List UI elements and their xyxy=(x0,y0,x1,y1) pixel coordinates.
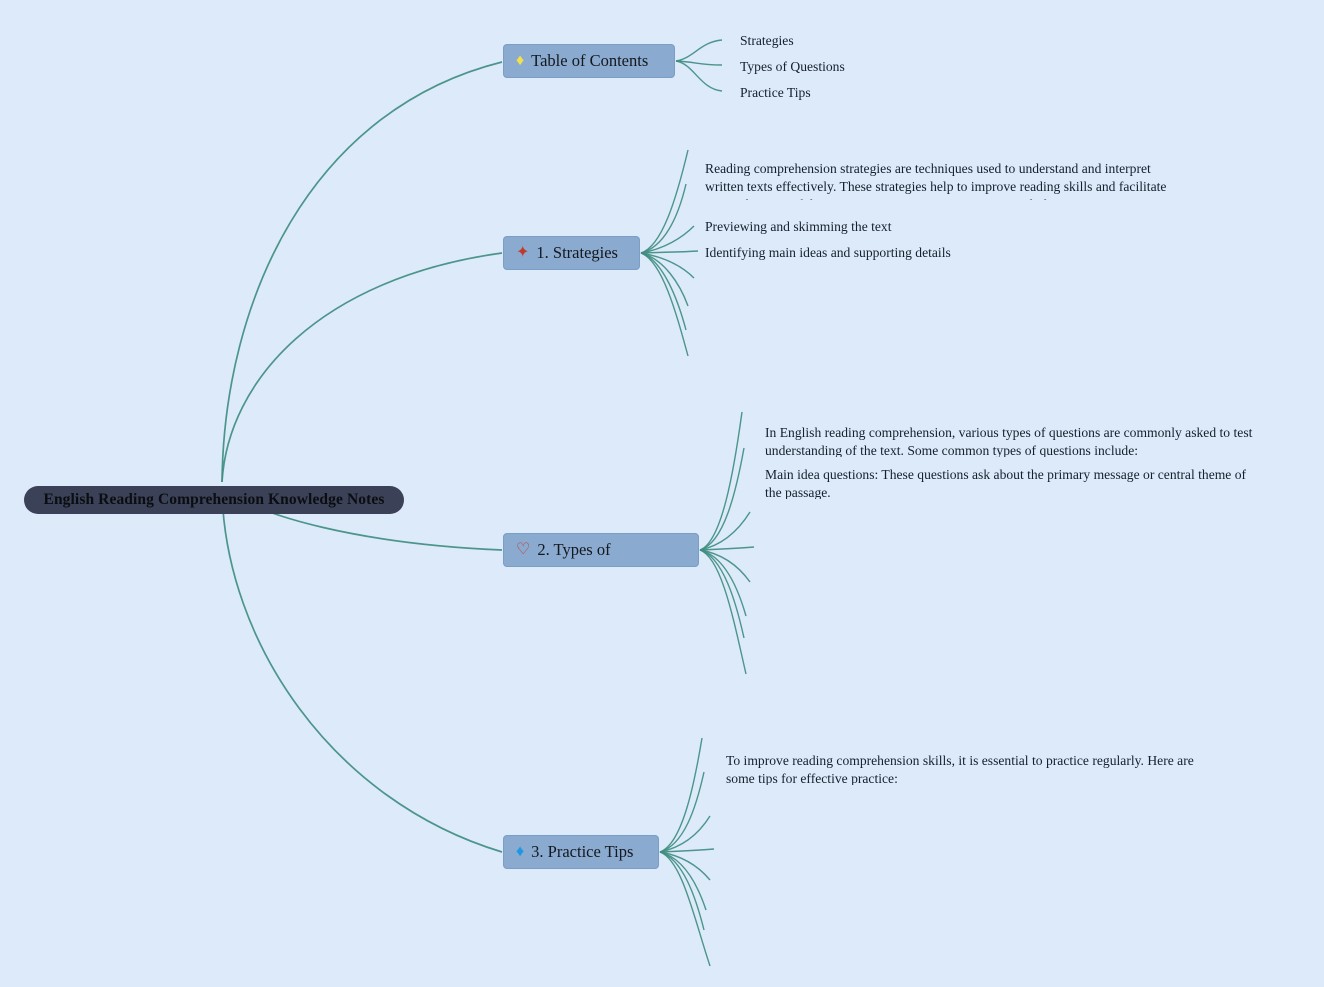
edge-strategies-4 xyxy=(641,253,694,278)
edge-strategies-2 xyxy=(641,226,694,253)
edge-strategies-3 xyxy=(641,251,698,253)
edge-strategies-5 xyxy=(641,253,688,306)
branch-node-strategies[interactable]: ✦ 1. Strategies xyxy=(503,236,640,270)
edge-strategies-1 xyxy=(641,184,686,253)
edge-root-to-toc xyxy=(222,62,502,482)
leaf-strategies-intro: Reading comprehension strategies are tec… xyxy=(705,160,1185,200)
flame-icon: ♦ xyxy=(516,844,524,860)
edge-practice-2 xyxy=(660,816,710,852)
edge-strategies-6 xyxy=(641,253,686,330)
edge-practice-3 xyxy=(660,849,714,852)
edge-practice-4 xyxy=(660,852,710,880)
leaf-toc-types-of-questions: Types of Questions xyxy=(740,58,845,76)
edge-types-6 xyxy=(700,550,744,638)
edge-types-5 xyxy=(700,550,746,616)
edge-strategies-0 xyxy=(641,150,688,253)
branch-node-table-of-contents[interactable]: ♦ Table of Contents xyxy=(503,44,675,78)
root-node[interactable]: English Reading Comprehension Knowledge … xyxy=(24,486,404,514)
branch-label-types-of-questions: 2. Types of xyxy=(537,540,610,560)
magic-wand-icon: ✦ xyxy=(516,245,529,261)
edge-practice-1 xyxy=(660,772,704,852)
leaf-toc-practice-tips: Practice Tips xyxy=(740,84,811,102)
edge-strategies-7 xyxy=(641,253,688,356)
edge-toc-0 xyxy=(676,40,722,61)
gem-icon: ♦ xyxy=(516,53,524,69)
edge-practice-7 xyxy=(660,852,710,966)
edge-root-to-practice xyxy=(222,492,502,852)
branch-label-strategies: 1. Strategies xyxy=(536,243,618,263)
leaf-strategies-main-ideas: Identifying main ideas and supporting de… xyxy=(705,244,951,262)
edge-types-0 xyxy=(700,412,742,550)
edge-practice-0 xyxy=(660,738,702,852)
edge-practice-5 xyxy=(660,852,706,910)
leaf-types-main-idea-questions: Main idea questions: These questions ask… xyxy=(765,466,1263,499)
leaf-toc-strategies: Strategies xyxy=(740,32,794,50)
edge-types-4 xyxy=(700,550,750,582)
branch-node-practice-tips[interactable]: ♦ 3. Practice Tips xyxy=(503,835,659,869)
edge-root-to-strategies xyxy=(222,253,502,482)
edge-toc-1 xyxy=(676,61,722,65)
edge-types-7 xyxy=(700,550,746,674)
mindmap-canvas: English Reading Comprehension Knowledge … xyxy=(0,0,1324,987)
edge-types-1 xyxy=(700,448,744,550)
branch-node-types-of-questions[interactable]: ♡ 2. Types of xyxy=(503,533,699,567)
branch-label-practice-tips: 3. Practice Tips xyxy=(531,842,633,862)
root-node-label: English Reading Comprehension Knowledge … xyxy=(44,491,385,509)
leaf-types-intro: In English reading comprehension, variou… xyxy=(765,424,1255,457)
edge-practice-6 xyxy=(660,852,704,930)
edge-types-2 xyxy=(700,512,750,550)
edge-types-3 xyxy=(700,547,754,550)
branch-label-table-of-contents: Table of Contents xyxy=(531,51,648,71)
leaf-practice-intro: To improve reading comprehension skills,… xyxy=(726,752,1212,785)
heart-icon: ♡ xyxy=(516,542,530,558)
edge-toc-2 xyxy=(676,61,722,91)
leaf-strategies-previewing: Previewing and skimming the text xyxy=(705,218,892,236)
